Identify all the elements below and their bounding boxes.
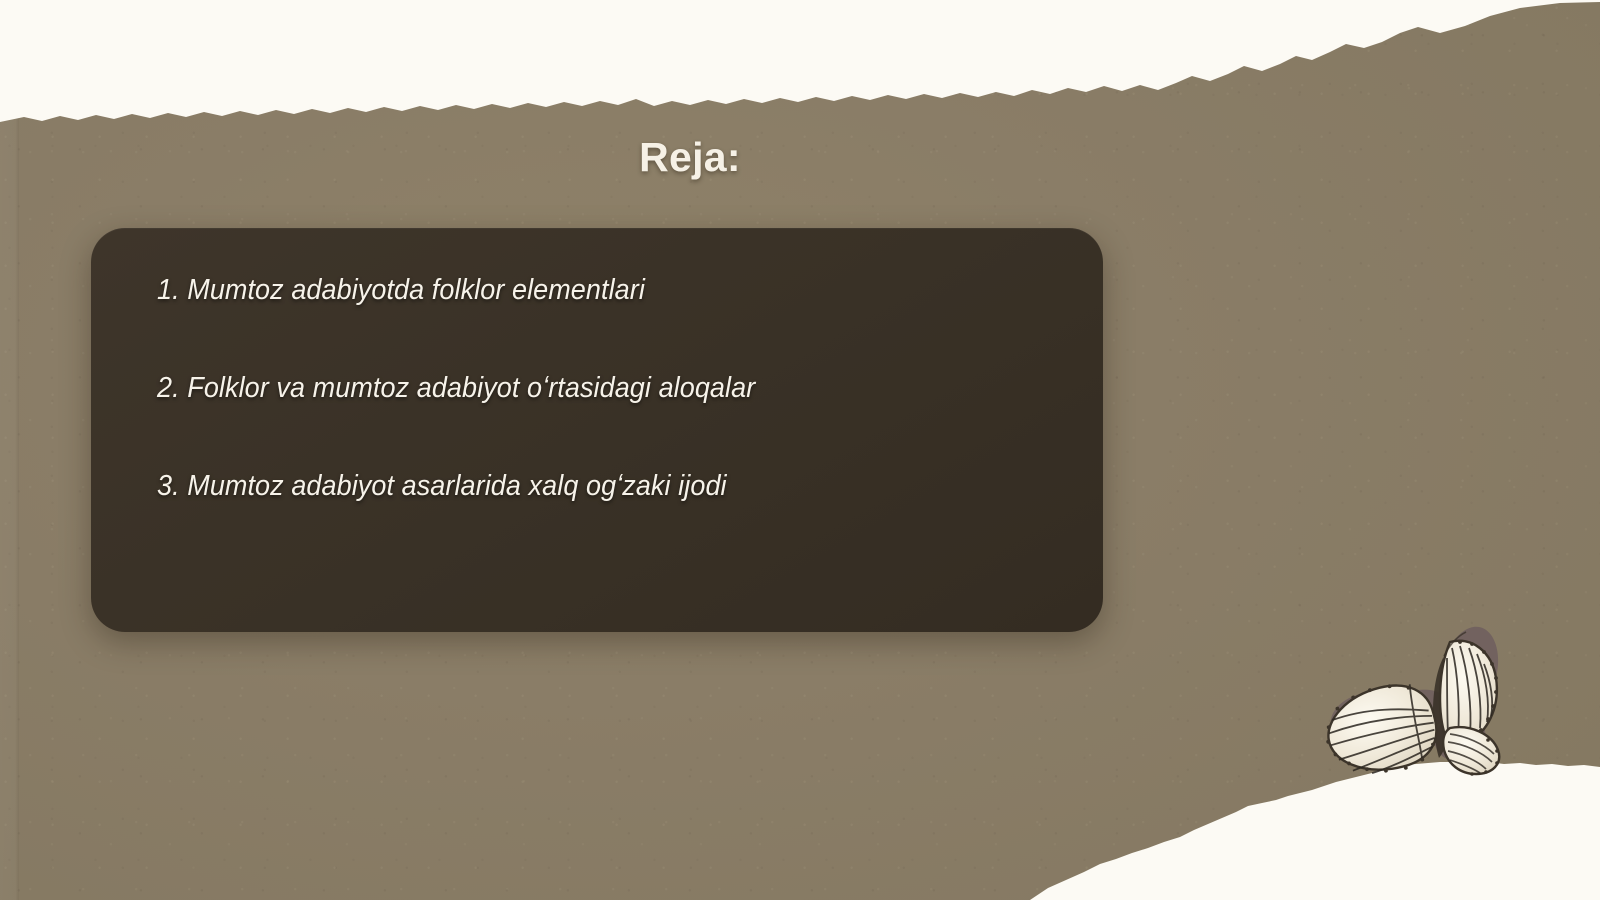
plan-card: 1. Mumtoz adabiyotda folklor elementlari… — [91, 228, 1103, 632]
plan-list-item-3: 3. Mumtoz adabiyot asarlarida xalq ogʻza… — [157, 472, 1000, 570]
butterfly-icon — [1300, 618, 1520, 818]
presentation-slide: Reja: 1. Mumtoz adabiyotda folklor eleme… — [0, 0, 1600, 900]
plan-list: 1. Mumtoz adabiyotda folklor elementlari… — [157, 276, 1063, 570]
plan-list-item-2: 2. Folklor va mumtoz adabiyot oʻrtasidag… — [157, 374, 1000, 472]
plan-list-item-1: 1. Mumtoz adabiyotda folklor elementlari — [157, 276, 1000, 374]
slide-title: Reja: — [0, 134, 1380, 181]
